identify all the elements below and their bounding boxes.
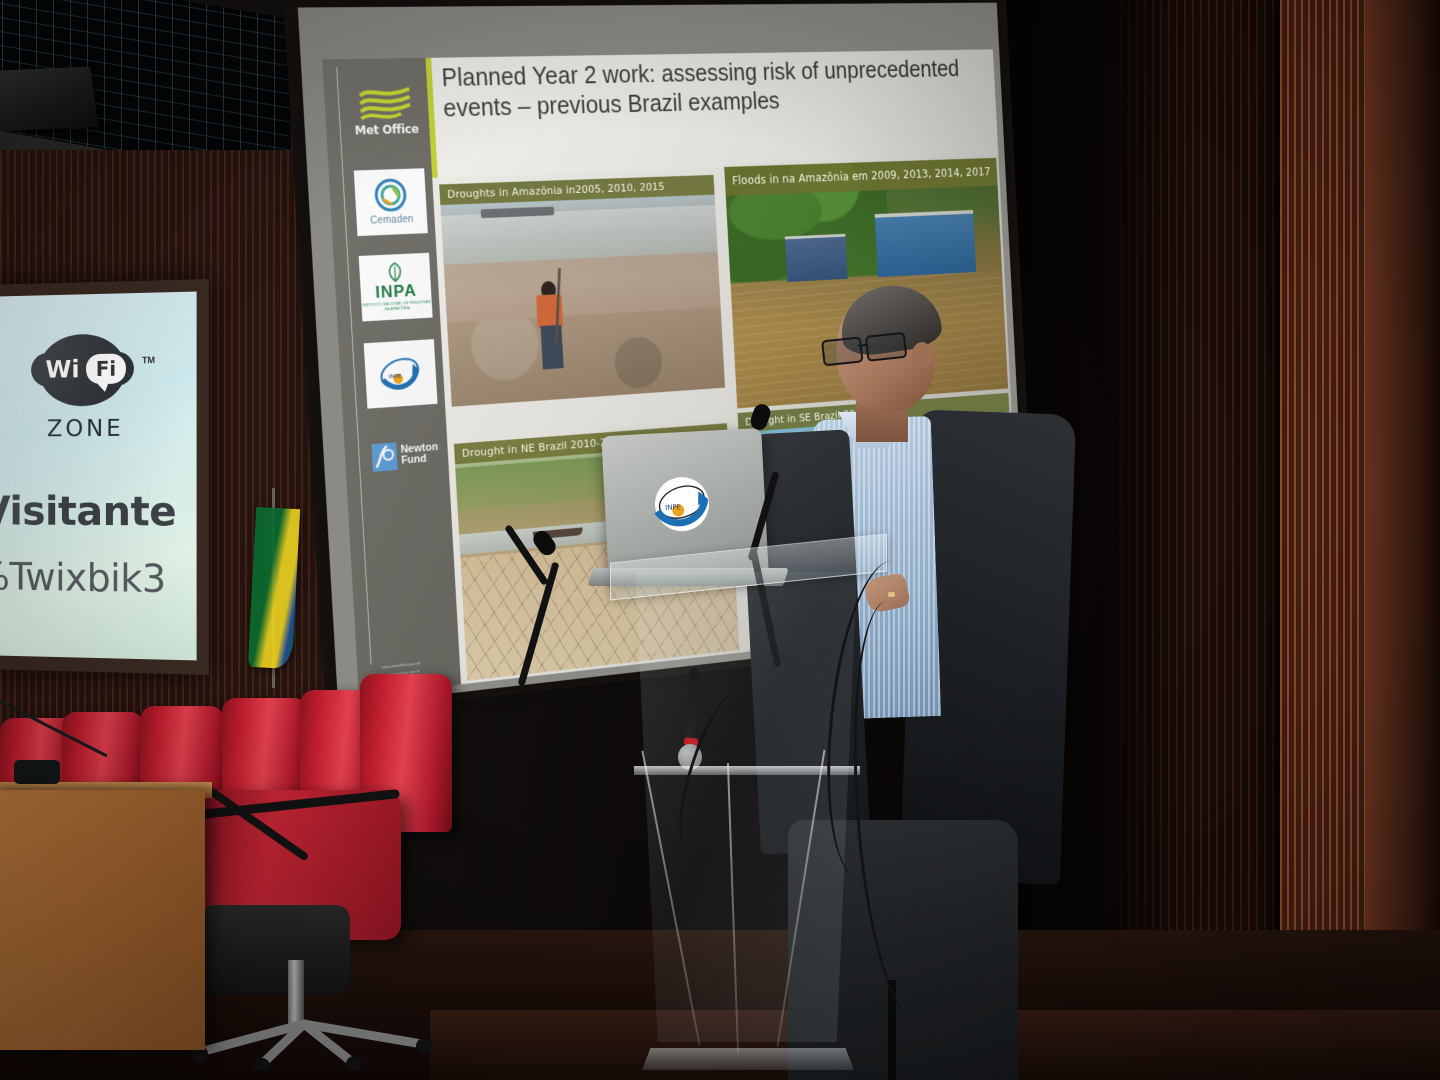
svg-text:INPE: INPE <box>665 503 681 512</box>
wifi-password: %Twixbik3 <box>0 555 197 602</box>
wifi-fi-text: Fi <box>86 354 126 385</box>
cemaden-swirl-icon <box>369 178 413 215</box>
cemaden-label: Cemaden <box>370 214 414 227</box>
inpe-orbit-icon: INPE <box>374 348 428 401</box>
wifi-slide: Wi Fi TM ZONE Visitante %Twixbik3 <box>0 292 197 661</box>
newton-fund-icon <box>372 442 398 472</box>
wooden-desk-panel <box>0 790 205 1050</box>
swivel-chair-star-base <box>192 1008 432 1070</box>
met-office-label: Met Office <box>354 122 419 138</box>
svg-text:INPE: INPE <box>388 374 402 381</box>
auditorium-photo: Wi Fi TM ZONE Visitante %Twixbik3 <box>0 0 1440 1080</box>
swivel-chair-base <box>200 905 350 995</box>
desk-microphone-base <box>14 760 60 784</box>
wood-pillar-edge <box>1365 0 1440 1080</box>
met-office-waves-icon <box>358 85 413 120</box>
newton-line2: Fund <box>401 453 439 466</box>
ceiling-vent <box>0 67 99 133</box>
wifi-ssid: Visitante <box>0 489 194 536</box>
newton-fund-label: Newton Fund <box>400 442 439 466</box>
star-base-icon <box>192 1008 432 1070</box>
photo-drought-amazonia: Droughts in Amazônia in2005, 2010, 2015 <box>436 172 728 410</box>
wifi-projection-screen: Wi Fi TM ZONE Visitante %Twixbik3 <box>0 279 209 675</box>
logo-newton-fund: Newton Fund <box>369 431 442 480</box>
wifi-logo-icon: Wi Fi TM <box>31 329 134 408</box>
inpa-label: INPA <box>375 281 417 303</box>
inpe-sticker-icon: INPE <box>647 472 716 535</box>
podium-foot <box>642 1048 854 1070</box>
logo-inpa: INPA INSTITUTO NACIONAL DE PESQUISAS DA … <box>359 253 433 322</box>
logo-met-office: Met Office <box>348 76 422 147</box>
wifi-zone-label: ZONE <box>31 416 140 443</box>
logo-cemaden: Cemaden <box>354 168 428 236</box>
ear <box>912 342 932 368</box>
trademark-symbol: TM <box>142 355 155 365</box>
inpa-sublabel: INSTITUTO NACIONAL DE PESQUISAS DA AMAZÔ… <box>361 300 432 314</box>
logo-inpe: INPE <box>364 339 438 409</box>
eyeglasses-icon <box>821 332 909 363</box>
podium-shelf <box>634 766 860 775</box>
wood-pillar <box>1280 0 1365 1080</box>
inpa-leaf-icon <box>382 261 408 282</box>
brazilian-flag <box>248 507 300 669</box>
wifi-wi-text: Wi <box>39 352 86 387</box>
